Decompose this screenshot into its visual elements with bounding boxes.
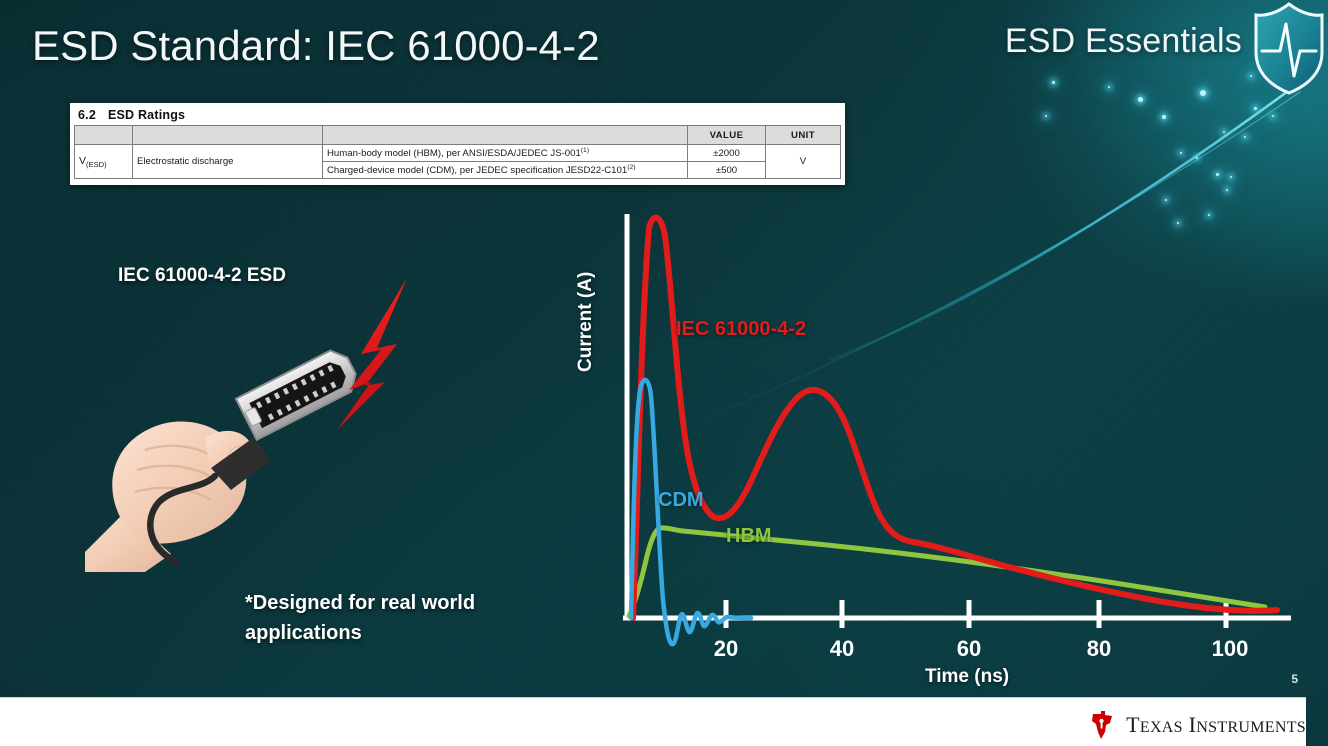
header-value: VALUE xyxy=(688,126,766,145)
shield-pulse-icon xyxy=(1250,0,1328,98)
y-axis-label: Current (A) xyxy=(575,272,597,372)
header-blank-3 xyxy=(323,126,688,145)
ti-brand-exas: EXAS xyxy=(1140,719,1183,736)
symbol-subscript: (ESD) xyxy=(86,160,107,169)
symbol-letter: V xyxy=(79,155,86,167)
cell-condition-cdm: Charged-device model (CDM), per JEDEC sp… xyxy=(323,162,688,179)
table-caption-text: ESD Ratings xyxy=(108,108,185,122)
header-blank-1 xyxy=(75,126,133,145)
ti-texas-mark-icon xyxy=(1087,710,1117,740)
footnote-note: *Designed for real world applications xyxy=(245,588,565,648)
page-number: 5 xyxy=(1291,672,1298,686)
svg-text:20: 20 xyxy=(714,636,738,661)
page-title: ESD Standard: IEC 61000-4-2 xyxy=(32,22,600,70)
series-label-cdm: CDM xyxy=(658,489,704,512)
texas-instruments-logo: TEXAS INSTRUMENTS xyxy=(1087,710,1306,740)
series-label-hbm: HBM xyxy=(726,525,772,548)
esd-ratings-table-card: 6.2ESD Ratings VALUE UNIT V(ESD) Electro… xyxy=(70,103,845,185)
cell-value-cdm: ±500 xyxy=(688,162,766,179)
cell-symbol: V(ESD) xyxy=(75,145,133,179)
footnote-marker-1: (1) xyxy=(581,147,589,154)
cell-unit: V xyxy=(766,145,841,179)
table-caption: 6.2ESD Ratings xyxy=(74,106,841,125)
table-section-number: 6.2 xyxy=(78,108,96,122)
brand-tagline: ESD Essentials xyxy=(1005,22,1242,61)
svg-text:80: 80 xyxy=(1087,636,1111,661)
series-label-iec: IEC 61000-4-2 xyxy=(676,318,806,341)
ti-wordmark: TEXAS INSTRUMENTS xyxy=(1126,712,1306,738)
header-unit: UNIT xyxy=(766,126,841,145)
esd-waveform-chart: 20 40 60 80 100 xyxy=(565,200,1310,700)
x-axis-label: Time (ns) xyxy=(925,666,1009,688)
svg-text:60: 60 xyxy=(957,636,981,661)
table-header-row: VALUE UNIT xyxy=(75,126,841,145)
svg-text:40: 40 xyxy=(830,636,854,661)
cell-condition-hbm: Human-body model (HBM), per ANSI/ESDA/JE… xyxy=(323,145,688,162)
footnote-marker-2: (2) xyxy=(627,164,635,171)
cell-parameter: Electrostatic discharge xyxy=(133,145,323,179)
table-row: V(ESD) Electrostatic discharge Human-bod… xyxy=(75,145,841,162)
cell-value-hbm: ±2000 xyxy=(688,145,766,162)
svg-text:100: 100 xyxy=(1212,636,1249,661)
lightning-bolt-icon xyxy=(337,278,407,430)
header-blank-2 xyxy=(133,126,323,145)
condition-text-hbm: Human-body model (HBM), per ANSI/ESDA/JE… xyxy=(327,148,581,159)
x-tick-labels: 20 40 60 80 100 xyxy=(714,636,1249,661)
esd-ratings-table: VALUE UNIT V(ESD) Electrostatic discharg… xyxy=(74,125,841,179)
slide-canvas: ESD Standard: IEC 61000-4-2 ESD Essentia… xyxy=(0,0,1328,746)
hand-holding-hdmi-cable xyxy=(85,262,435,572)
condition-text-cdm: Charged-device model (CDM), per JEDEC sp… xyxy=(327,165,627,176)
ti-brand-nstruments: NSTRUMENTS xyxy=(1196,719,1306,736)
ti-brand-t: T xyxy=(1126,712,1140,737)
x-axis-ticks xyxy=(726,600,1226,628)
